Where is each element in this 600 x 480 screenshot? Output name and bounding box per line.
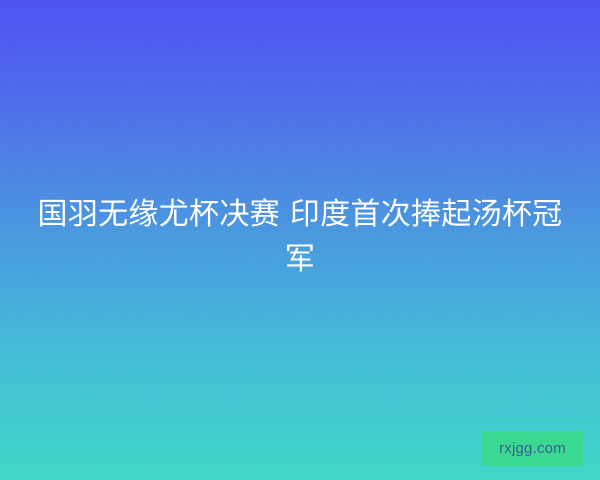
site-watermark-badge: rxjgg.com [482, 431, 583, 466]
site-watermark-label: rxjgg.com [499, 441, 566, 456]
headline-block: 国羽无缘尤杯决赛 印度首次捧起汤杯冠军 [0, 192, 600, 282]
page-title: 国羽无缘尤杯决赛 印度首次捧起汤杯冠军 [30, 192, 570, 282]
article-cover-card: 国羽无缘尤杯决赛 印度首次捧起汤杯冠军 rxjgg.com [0, 0, 600, 480]
